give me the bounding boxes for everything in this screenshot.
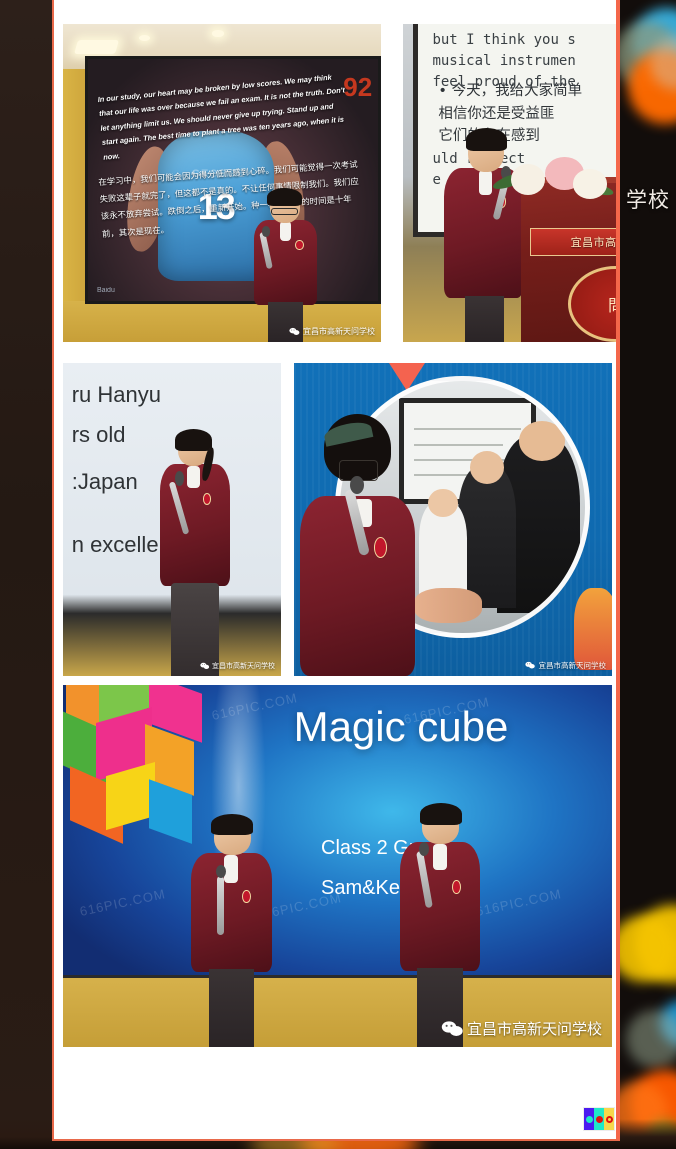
badge-dot-red-outline	[606, 1116, 613, 1123]
wechat-icon	[525, 661, 535, 669]
school-badge	[295, 240, 304, 251]
ceiling-light-3	[212, 30, 223, 36]
school-badge	[242, 890, 251, 904]
badge-segment-cyan	[594, 1108, 604, 1130]
microphone-head	[262, 226, 271, 237]
student-speaker-right	[398, 808, 486, 1047]
slide-en-line-2: musical instrumen	[432, 51, 620, 72]
shirt	[187, 466, 200, 488]
trousers	[209, 969, 255, 1047]
person-woman-1-head	[470, 451, 504, 484]
slide-en-line-1: but I think you s	[432, 30, 620, 51]
trousers	[465, 296, 504, 342]
tri-color-brand-badge[interactable]	[584, 1108, 614, 1130]
shirt	[479, 170, 492, 195]
photo-student-self-introduction-slide[interactable]: ru Hanyu rs old :Japan n excellen 宜昌市高新天…	[63, 363, 281, 676]
microphone-head	[175, 471, 184, 486]
photo-student-speech-podium[interactable]: but I think you s musical instrumen feel…	[403, 24, 620, 342]
ceiling-light-1	[74, 40, 119, 54]
background-school-name: 学校	[626, 184, 670, 214]
wechat-icon	[200, 662, 209, 670]
photo-student-speech-basketball-slide[interactable]: GEORGE 13 92 In our study, our heart may…	[63, 24, 381, 342]
shirt	[433, 844, 447, 870]
slide-zh-line-2: 相信你还是受益匪	[438, 103, 620, 125]
flower-arrangement	[502, 151, 616, 221]
flower-1	[511, 164, 545, 195]
shirt	[224, 855, 238, 882]
person-woman-2-head	[428, 489, 457, 517]
slide-source-label: Baidu	[97, 287, 115, 294]
badge-dot-cyan	[586, 1116, 593, 1123]
slide-zh-line-1: • 今天，我给大家简单	[438, 80, 620, 102]
whiteboard-line-1	[414, 428, 521, 430]
badge-dot-red-filled	[596, 1116, 603, 1123]
cartoon-figure	[574, 588, 612, 669]
microphone	[217, 876, 224, 935]
microphone-head	[350, 476, 364, 494]
screen-bottom-edge	[63, 975, 612, 978]
projection-screen: GEORGE 13 92 In our study, our heart may…	[85, 56, 381, 304]
hair	[466, 128, 507, 151]
watermark-text: 宜昌市高新天问学校	[212, 661, 275, 671]
background-right-strip	[620, 0, 676, 1149]
student-speaker	[307, 419, 415, 676]
photo-student-speech-blue-circle-slide[interactable]: 宜昌市高新天问学校	[294, 363, 612, 676]
article-content-panel[interactable]: GEORGE 13 92 In our study, our heart may…	[52, 0, 620, 1141]
background-left-strip	[0, 0, 56, 1149]
podium-name-plate: 宜昌市高新天问学校	[530, 228, 620, 257]
photo-watermark: 宜昌市高新天问学校	[525, 660, 606, 671]
photo-two-students-magic-cube-slide[interactable]: Magic cube Class 2 Grad Sam&Ke 616PIC.CO…	[63, 685, 612, 1047]
school-badge	[374, 537, 387, 558]
student-speaker	[159, 432, 237, 676]
student-speaker-left	[189, 819, 277, 1047]
wechat-icon	[289, 327, 300, 336]
glasses	[271, 208, 298, 216]
hair	[420, 803, 462, 825]
photo-watermark: 宜昌市高新天问学校	[441, 1018, 602, 1039]
bokeh-light-sage	[626, 1010, 676, 1068]
badge-segment-yellow	[604, 1108, 614, 1130]
photo-watermark: 宜昌市高新天问学校	[200, 661, 275, 671]
watermark-text: 宜昌市高新天问学校	[467, 1018, 602, 1039]
badge-segment-purple	[584, 1108, 594, 1130]
slide-line-1: ru Hanyu	[72, 382, 281, 408]
shirt	[280, 221, 291, 241]
watermark-text: 宜昌市高新天问学校	[303, 326, 375, 337]
wechat-icon	[441, 1020, 464, 1037]
whiteboard-line-2	[414, 444, 503, 446]
hair	[211, 814, 253, 835]
handshake	[414, 588, 482, 623]
watermark-text: 宜昌市高新天问学校	[539, 660, 607, 671]
photo-watermark: 宜昌市高新天问学校	[289, 326, 375, 337]
flower-3	[573, 169, 607, 198]
student-speaker	[247, 189, 327, 342]
hair	[175, 429, 213, 451]
hair	[267, 188, 302, 206]
